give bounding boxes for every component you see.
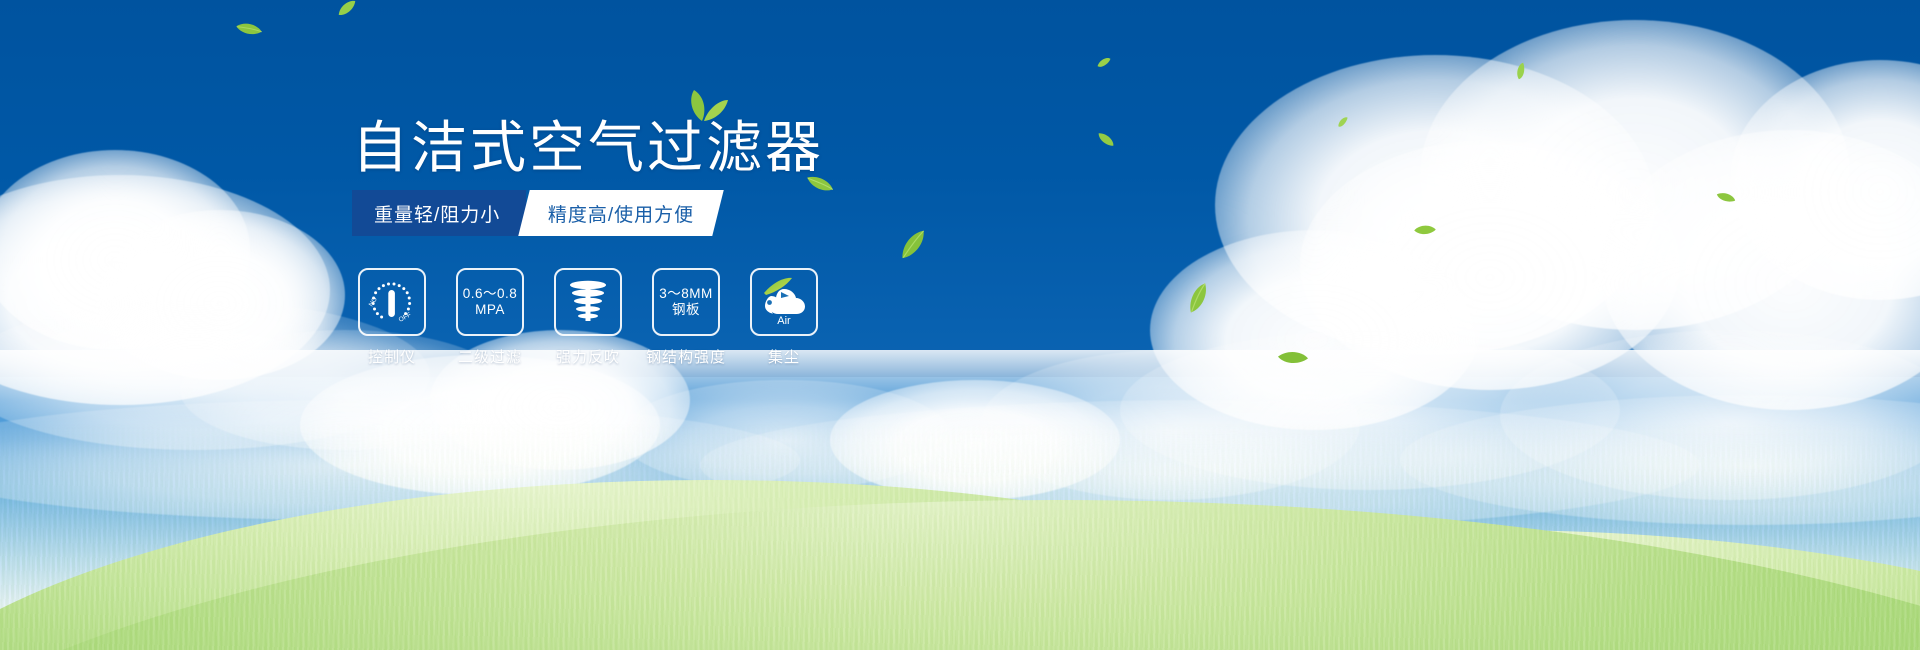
feature-icon-box: 3～8MM 钢板 <box>652 268 720 336</box>
air-cloud-icon: Air <box>756 277 812 327</box>
pressure-text-icon: 0.6～0.8 MPA <box>463 286 518 317</box>
feature-caption: 控制仪 <box>368 346 416 367</box>
banner-content: 自洁式空气过滤器 重量轻/阻力小 精度高/使用方便 <box>0 0 1920 650</box>
feature-line-1: 3～8MM <box>659 286 713 302</box>
feature-item-dust-collection[interactable]: Air 集尘 <box>748 268 820 367</box>
feature-caption: 强力反吹 <box>556 346 620 367</box>
feature-caption: 二级过滤 <box>458 346 522 367</box>
steel-plate-text-icon: 3～8MM 钢板 <box>659 286 713 317</box>
feature-caption: 集尘 <box>768 346 800 367</box>
badge-label: 精度高/使用方便 <box>548 200 694 227</box>
feature-item-controller[interactable]: NO OFF 控制仪 <box>356 268 428 367</box>
feature-icon-box <box>554 268 622 336</box>
hero-banner: 自洁式空气过滤器 重量轻/阻力小 精度高/使用方便 <box>0 0 1920 650</box>
badge-precision[interactable]: 精度高/使用方便 <box>519 190 725 236</box>
filter-cartridge-icon <box>565 278 611 326</box>
gauge-dial-icon: NO OFF <box>366 277 418 327</box>
feature-line-1: 0.6～0.8 <box>463 286 518 302</box>
air-label: Air <box>777 315 791 327</box>
page-title: 自洁式空气过滤器 <box>352 116 824 180</box>
badge-group: 重量轻/阻力小 精度高/使用方便 <box>352 190 719 236</box>
feature-list: NO OFF 控制仪 0.6～0.8 MPA 二级过滤 <box>356 268 820 367</box>
feature-line-2: MPA <box>463 302 518 318</box>
badge-label: 重量轻/阻力小 <box>374 200 500 227</box>
svg-text:NO: NO <box>368 296 379 308</box>
feature-item-back-blow[interactable]: 强力反吹 <box>552 268 624 367</box>
feature-icon-box: NO OFF <box>358 268 426 336</box>
badge-lightweight[interactable]: 重量轻/阻力小 <box>352 190 526 236</box>
feature-item-steel-strength[interactable]: 3～8MM 钢板 钢结构强度 <box>650 268 722 367</box>
feature-icon-box: 0.6～0.8 MPA <box>456 268 524 336</box>
feature-item-two-stage-filter[interactable]: 0.6～0.8 MPA 二级过滤 <box>454 268 526 367</box>
svg-text:OFF: OFF <box>398 311 413 323</box>
feature-icon-box: Air <box>750 268 818 336</box>
feature-line-2: 钢板 <box>659 302 713 318</box>
feature-caption: 钢结构强度 <box>646 346 726 367</box>
